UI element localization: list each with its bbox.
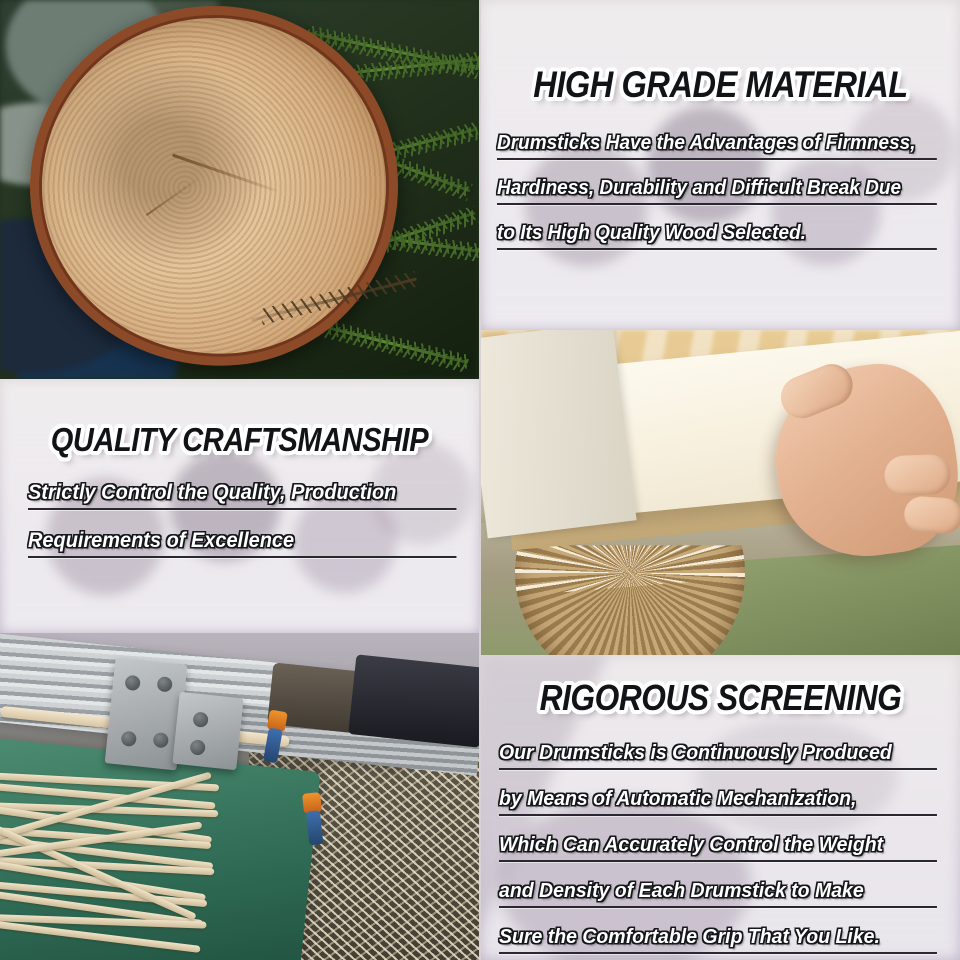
photo-cnc-lathe: [0, 633, 479, 960]
finger: [903, 495, 960, 535]
photo-table-saw: [481, 330, 960, 655]
body-line-text: Hardiness, Durability and Difficult Brea…: [497, 177, 901, 199]
body-line: and Density of Each Drumstick to Make: [499, 879, 937, 903]
section-heading: QUALITY CRAFTSMANSHIP: [29, 421, 451, 459]
underline-rule: [497, 158, 937, 160]
body-line: Strictly Control the Quality, Production: [28, 481, 456, 505]
section-quality-craftsmanship: QUALITY CRAFTSMANSHIP Strictly Control t…: [0, 379, 479, 633]
body-line: Sure the Comfortable Grip That You Like.: [499, 925, 937, 949]
drumstick-pile: [0, 755, 270, 960]
underline-rule: [499, 952, 937, 954]
underline-rule: [497, 203, 937, 205]
carriage-block-secondary: [172, 692, 243, 770]
body-line-text: to Its High Quality Wood Selected.: [497, 222, 806, 244]
underline-rule: [499, 814, 937, 816]
body-line-text: Requirements of Excellence: [28, 529, 294, 552]
section-heading: RIGOROUS SCREENING: [510, 677, 932, 719]
section-rigorous-screening: RIGOROUS SCREENING Our Drumsticks is Con…: [481, 655, 960, 960]
saw-fence: [481, 330, 637, 538]
body-line: Our Drumsticks is Continuously Produced: [499, 741, 937, 765]
body-line: Hardiness, Durability and Difficult Brea…: [497, 177, 937, 200]
infographic-page: HIGH GRADE MATERIAL Drumsticks Have the …: [0, 0, 960, 960]
body-line-text: Which Can Accurately Control the Weight: [499, 833, 883, 856]
body-line-text: Drumsticks Have the Advantages of Firmne…: [497, 132, 916, 154]
underline-rule: [499, 768, 937, 770]
finger: [884, 454, 951, 496]
body-line: Drumsticks Have the Advantages of Firmne…: [497, 132, 937, 155]
underline-rule: [499, 860, 937, 862]
body-line: Requirements of Excellence: [28, 529, 456, 553]
body-line-text: by Means of Automatic Mechanization,: [499, 787, 856, 810]
underline-rule: [499, 906, 937, 908]
body-line: Which Can Accurately Control the Weight: [499, 833, 937, 857]
body-line: to Its High Quality Wood Selected.: [497, 222, 937, 245]
section-heading: HIGH GRADE MATERIAL: [510, 64, 932, 106]
body-line-text: Sure the Comfortable Grip That You Like.: [499, 925, 880, 948]
body-line-text: Our Drumsticks is Continuously Produced: [499, 741, 892, 764]
section-body: Drumsticks Have the Advantages of Firmne…: [497, 132, 960, 245]
body-line-text: Strictly Control the Quality, Production: [28, 481, 396, 504]
section-high-grade-material: HIGH GRADE MATERIAL Drumsticks Have the …: [481, 0, 960, 330]
section-body: Strictly Control the Quality, Production…: [28, 481, 479, 553]
body-line: by Means of Automatic Mechanization,: [499, 787, 937, 811]
drive-motor: [348, 654, 479, 747]
body-line-text: and Density of Each Drumstick to Make: [499, 879, 864, 902]
photo-log-cross-section: [0, 0, 479, 379]
log-crack-secondary: [146, 176, 201, 216]
underline-rule: [28, 508, 456, 510]
section-body: Our Drumsticks is Continuously Produced …: [499, 741, 960, 949]
underline-rule: [497, 248, 937, 250]
underline-rule: [28, 556, 456, 558]
